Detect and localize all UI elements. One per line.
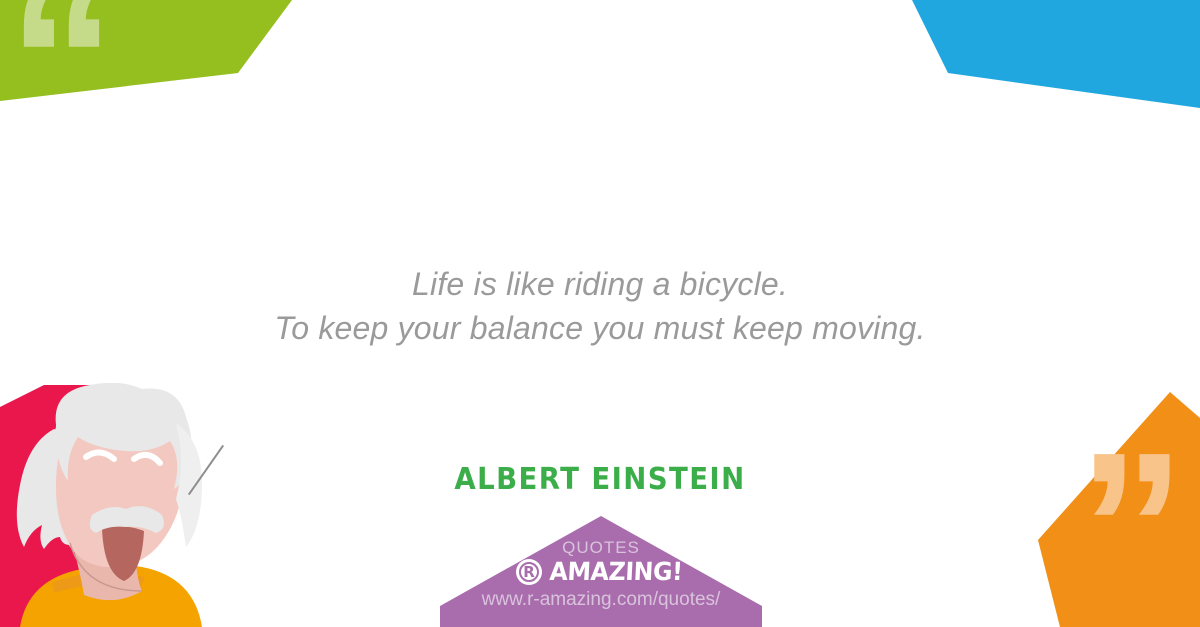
blue-corner-shape	[890, 0, 1200, 130]
einstein-illustration	[8, 383, 268, 627]
brand-url[interactable]: www.r-amazing.com/quotes/	[440, 589, 762, 611]
r-badge-icon: R	[516, 559, 542, 585]
author-name: ALBERT EINSTEIN	[48, 462, 1152, 497]
brand-wordmark: AMAZING!	[549, 559, 683, 585]
quote-card: “ ” Life is like riding a bicycle. To	[0, 0, 1200, 627]
open-quote-icon: “	[8, 0, 116, 167]
close-quote-icon: ”	[1078, 420, 1186, 627]
quote-text-block: Life is like riding a bicycle. To keep y…	[0, 262, 1200, 350]
quote-line-2: To keep your balance you must keep movin…	[0, 306, 1200, 350]
brand-wordmark-row: R AMAZING!	[440, 558, 762, 586]
r-badge-letter: R	[523, 563, 535, 581]
green-corner-shape: “	[0, 0, 300, 120]
quote-line-1: Life is like riding a bicycle.	[0, 262, 1200, 306]
brand-quotes-label: QUOTES	[440, 538, 762, 557]
brand-block: QUOTES R AMAZING! www.r-amazing.com/quot…	[440, 538, 762, 611]
